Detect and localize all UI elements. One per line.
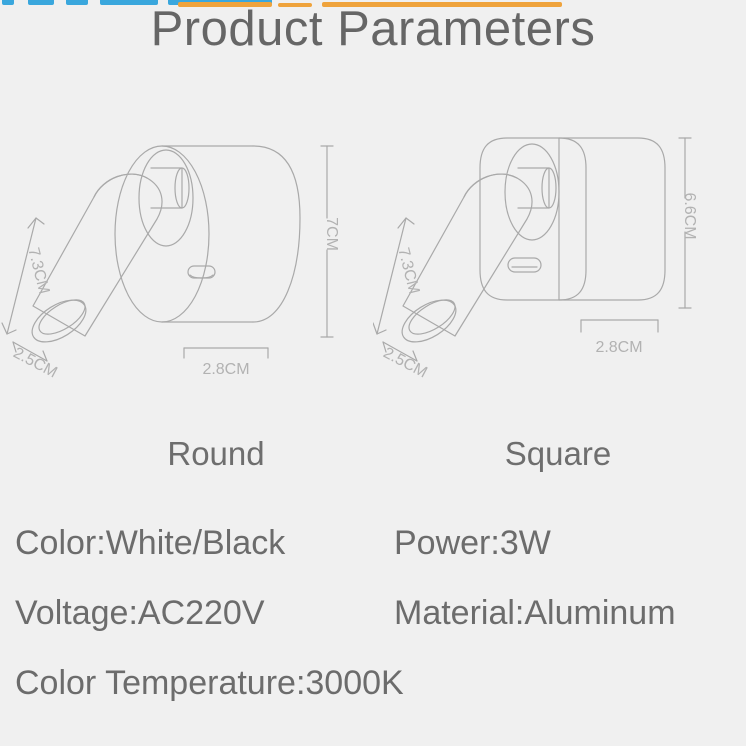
spec-row: Color Temperature:3000K: [0, 652, 746, 722]
dimension-label-round-head-diameter: 2.5CM: [10, 344, 60, 381]
dimension-label-square-body-height: 6.6CM: [681, 192, 698, 239]
diagram-round: 7.3CM 2.5CM 7CM 2.8CM: [0, 120, 373, 410]
square-base-inner-ring: [505, 144, 559, 240]
variant-caption-group: Round Square: [0, 428, 746, 484]
spec-color-temperature: Color Temperature:3000K: [15, 652, 404, 714]
square-lamp-drawing: 7.3CM 2.5CM 6.6CM 2.8CM: [373, 120, 746, 410]
spec-voltage: Voltage:AC220V: [15, 582, 265, 644]
spec-row: Voltage:AC220V Material:Aluminum: [0, 582, 746, 652]
dimension-label-round-head-length: 7.3CM: [24, 246, 52, 296]
variant-label-square: Square: [388, 428, 728, 480]
spec-list: Color:White/Black Power:3W Voltage:AC220…: [0, 512, 746, 722]
spec-power: Power:3W: [394, 512, 551, 574]
spec-material: Material:Aluminum: [394, 582, 676, 644]
variant-label-round: Round: [46, 428, 386, 480]
spec-row: Color:White/Black Power:3W: [0, 512, 746, 582]
square-power-switch: [508, 258, 541, 272]
dimension-round-body-depth: [184, 348, 268, 358]
product-diagram-group: 7.3CM 2.5CM 7CM 2.8CM: [0, 120, 746, 410]
round-swivel-joint: [151, 168, 189, 208]
round-lamp-drawing: 7.3CM 2.5CM 7CM 2.8CM: [0, 120, 373, 410]
diagram-square: 7.3CM 2.5CM 6.6CM 2.8CM: [373, 120, 746, 410]
dimension-label-square-head-length: 7.3CM: [394, 246, 422, 296]
round-base-inner-ring: [139, 150, 193, 246]
page-title: Product Parameters: [0, 0, 746, 60]
square-base-body: [480, 138, 665, 300]
dimension-label-round-body-depth: 2.8CM: [202, 361, 249, 378]
dimension-label-square-head-diameter: 2.5CM: [380, 344, 430, 381]
dimension-label-round-body-height: 7CM: [323, 217, 340, 251]
square-swivel-joint: [518, 168, 556, 208]
dimension-square-body-depth: [581, 320, 658, 332]
round-power-switch: [188, 266, 215, 278]
spec-color: Color:White/Black: [15, 512, 285, 574]
dimension-label-square-body-depth: 2.8CM: [595, 339, 642, 356]
